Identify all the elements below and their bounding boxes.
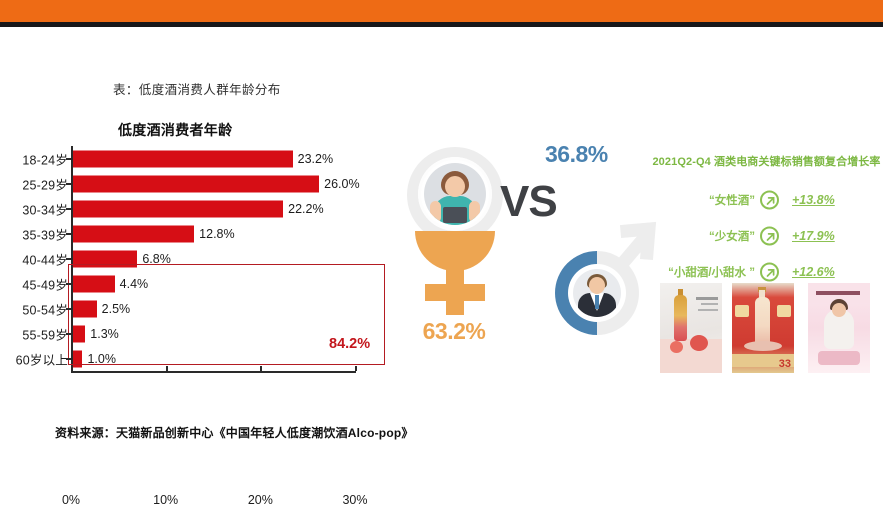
chart-x-tick [166,366,168,371]
chart-row: 25-29岁26.0% [0,171,400,196]
chart-x-tick-label: 30% [342,493,367,507]
top-dark-rule [0,22,883,27]
chart-category-label: 55-59岁 [22,324,68,343]
pink-bottle-promo-ad[interactable]: 33 [732,283,794,373]
chart-row: 30-34岁22.2% [0,196,400,221]
chart-row: 18-24岁23.2% [0,146,400,171]
female-avatar [424,163,486,225]
chart-x-tick-label: 0% [62,493,80,507]
chart-bar [73,300,97,317]
chart-row: 40-44岁6.8% [0,246,400,271]
chart-category-label: 50-54岁 [22,299,68,318]
chart-category-label: 45-49岁 [22,274,68,293]
chart-y-tick [66,258,71,260]
chart-value-label: 6.8% [142,252,171,266]
chart-category-label: 18-24岁 [22,149,68,168]
growth-row-label: “小甜酒/小甜水 ” [668,264,755,280]
chart-y-tick [66,283,71,285]
chart-value-label: 23.2% [298,152,333,166]
chart-bar [73,225,194,242]
growth-up-arrow-icon [760,227,779,246]
chart-bar [73,250,137,267]
chart-bar [73,175,319,192]
chart-bar [73,350,82,367]
chart-y-tick [66,208,71,210]
growth-row-value: +17.9% [792,229,835,243]
chart-y-tick [66,233,71,235]
chart-bar [73,150,293,167]
female-symbol-icon [405,145,505,315]
growth-row-label: “少女酒” [709,228,755,244]
growth-up-arrow-icon [760,263,779,282]
chart-title: 低度酒消费者年龄 [118,120,232,140]
chart-category-label: 60岁以上 [16,349,68,368]
growth-row: “少女酒”+17.9% [650,224,883,248]
product-ad-thumbnails: 33 [660,283,875,375]
highlight-total-label: 84.2% [329,336,370,352]
chart-y-tick [66,333,71,335]
chart-row: 50-54岁2.5% [0,296,400,321]
chart-value-label: 1.3% [90,327,119,341]
chart-x-tick-labels: 0%10%20%30% [0,493,400,509]
chart-value-label: 4.4% [120,277,149,291]
chart-y-tick [66,183,71,185]
growth-row: “女性酒”+13.8% [650,188,883,212]
growth-row-value: +12.6% [792,265,835,279]
chart-y-tick [66,358,71,360]
chart-value-label: 2.5% [102,302,131,316]
top-orange-band [0,0,883,22]
chart-category-label: 25-29岁 [22,174,68,193]
chart-y-tick [66,158,71,160]
chart-row: 35-39岁12.8% [0,221,400,246]
sparkling-rose-ad[interactable] [660,283,722,373]
chart-bar [73,325,85,342]
growth-panel-title: 2021Q2-Q4 酒类电商关键标销售额复合增长率 [650,153,883,169]
chart-value-label: 22.2% [288,202,323,216]
ad-price-label: 33 [779,358,791,370]
chart-x-tick [355,366,357,371]
slide-root: 表：低度酒消费人群年龄分布 低度酒消费者年龄 18-24岁23.2%25-29岁… [0,0,883,468]
chart-y-tick [66,308,71,310]
chart-row: 45-49岁4.4% [0,271,400,296]
chart-value-label: 12.8% [199,227,234,241]
chart-x-tick [260,366,262,371]
growth-up-arrow-icon [760,191,779,210]
source-note: 资料来源：天猫新品创新中心《中国年轻人低度潮饮酒Alco-pop》 [55,424,414,441]
gender-comparison: 63.2% VS 36.8% [395,140,660,375]
growth-row-value: +13.8% [792,193,835,207]
model-lifestyle-ad[interactable] [808,283,870,373]
male-avatar [573,269,621,317]
chart-bar [73,275,115,292]
growth-row-label: “女性酒” [709,192,755,208]
chart-x-tick-label: 10% [153,493,178,507]
chart-category-label: 40-44岁 [22,249,68,268]
male-percent: 36.8% [545,141,608,168]
chart-bar [73,200,283,217]
chart-value-label: 1.0% [87,352,116,366]
age-distribution-chart: 低度酒消费者年龄 18-24岁23.2%25-29岁26.0%30-34岁22.… [0,120,400,390]
female-percent: 63.2% [404,318,504,345]
chart-x-tick-label: 20% [248,493,273,507]
growth-row: “小甜酒/小甜水 ”+12.6% [650,260,883,284]
male-symbol-icon [543,215,661,330]
chart-category-label: 35-39岁 [22,224,68,243]
chart-x-tick [71,366,73,371]
table-caption: 表：低度酒消费人群年龄分布 [113,79,281,98]
chart-category-label: 30-34岁 [22,199,68,218]
chart-value-label: 26.0% [324,177,359,191]
chart-x-axis [71,371,356,373]
